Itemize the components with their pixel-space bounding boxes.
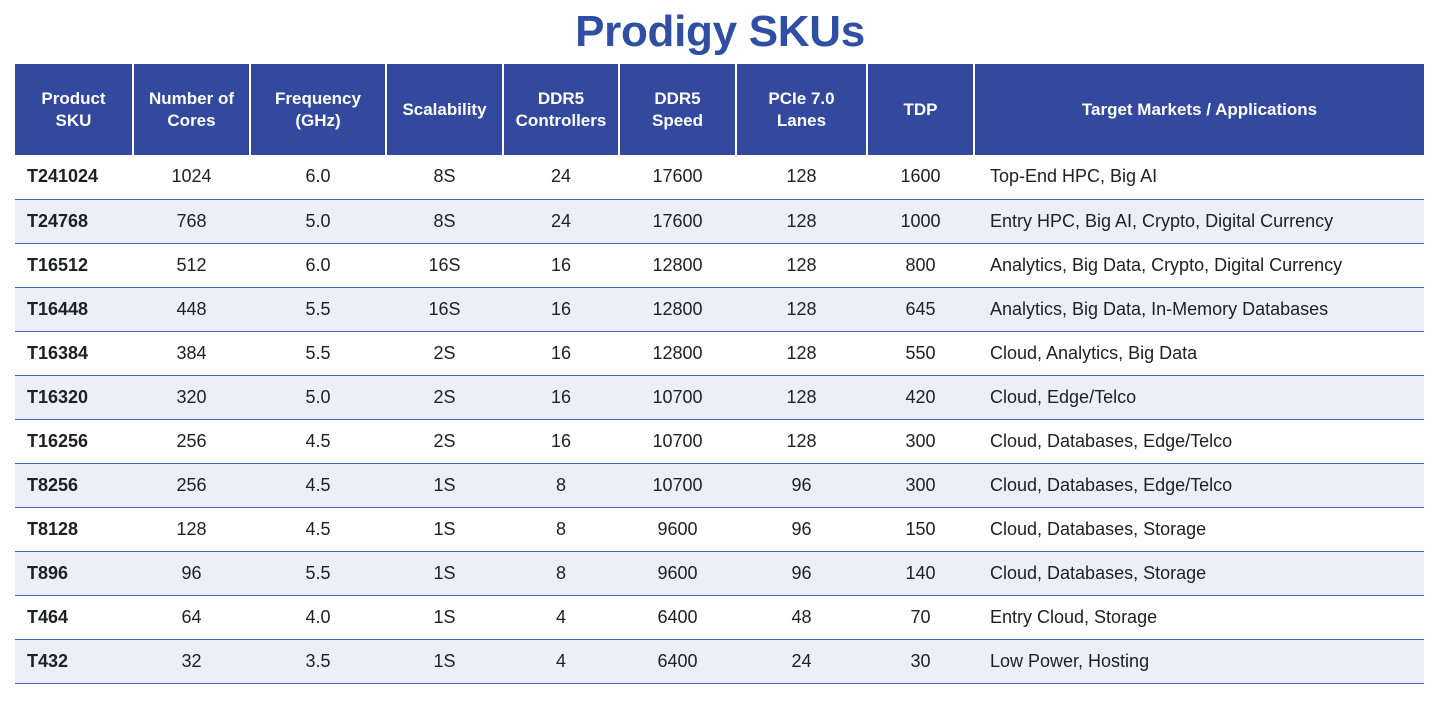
cell-product-sku: T8256	[15, 463, 133, 507]
cell-ddr5-controllers: 4	[503, 639, 619, 683]
table-row[interactable]: T163203205.02S1610700128420Cloud, Edge/T…	[15, 375, 1424, 419]
cell-ddr5-controllers: 8	[503, 507, 619, 551]
cell-ddr5-speed: 10700	[619, 375, 736, 419]
cell-ddr5-speed: 6400	[619, 639, 736, 683]
cell-scalability: 16S	[386, 243, 503, 287]
cell-pcie-lanes: 128	[736, 243, 867, 287]
header-line-2: Cores	[167, 111, 215, 130]
cell-ddr5-speed: 6400	[619, 595, 736, 639]
cell-frequency: 4.5	[250, 463, 386, 507]
prodigy-sku-page: Prodigy SKUs Product SKU Number of Cores	[0, 0, 1440, 720]
column-header-ddr5-speed[interactable]: DDR5 Speed	[619, 64, 736, 155]
cell-target-markets: Cloud, Databases, Storage	[974, 551, 1424, 595]
cell-ddr5-speed: 10700	[619, 463, 736, 507]
header-line-1: Frequency	[275, 89, 361, 108]
column-header-number-of-cores[interactable]: Number of Cores	[133, 64, 250, 155]
cell-target-markets: Low Power, Hosting	[974, 639, 1424, 683]
cell-product-sku: T16256	[15, 419, 133, 463]
header-line-2: SKU	[56, 111, 92, 130]
cell-pcie-lanes: 128	[736, 155, 867, 199]
table-row[interactable]: T165125126.016S1612800128800Analytics, B…	[15, 243, 1424, 287]
cell-pcie-lanes: 48	[736, 595, 867, 639]
cell-product-sku: T16448	[15, 287, 133, 331]
header-line-1: Scalability	[402, 100, 486, 119]
cell-pcie-lanes: 128	[736, 375, 867, 419]
cell-scalability: 2S	[386, 419, 503, 463]
cell-frequency: 4.5	[250, 419, 386, 463]
cell-target-markets: Entry Cloud, Storage	[974, 595, 1424, 639]
cell-pcie-lanes: 128	[736, 287, 867, 331]
cell-number-of-cores: 256	[133, 463, 250, 507]
column-header-product-sku[interactable]: Product SKU	[15, 64, 133, 155]
header-line-1: DDR5	[654, 89, 700, 108]
cell-ddr5-controllers: 16	[503, 331, 619, 375]
table-row[interactable]: T432323.51S464002430Low Power, Hosting	[15, 639, 1424, 683]
cell-tdp: 300	[867, 463, 974, 507]
cell-tdp: 550	[867, 331, 974, 375]
table-body: T24102410246.08S24176001281600Top-End HP…	[15, 155, 1424, 683]
cell-pcie-lanes: 128	[736, 331, 867, 375]
header-row: Product SKU Number of Cores Frequency (G…	[15, 64, 1424, 155]
cell-scalability: 1S	[386, 551, 503, 595]
cell-tdp: 150	[867, 507, 974, 551]
cell-frequency: 3.5	[250, 639, 386, 683]
cell-ddr5-controllers: 8	[503, 463, 619, 507]
cell-frequency: 5.0	[250, 199, 386, 243]
cell-frequency: 5.5	[250, 551, 386, 595]
cell-target-markets: Analytics, Big Data, Crypto, Digital Cur…	[974, 243, 1424, 287]
cell-pcie-lanes: 96	[736, 507, 867, 551]
cell-tdp: 1000	[867, 199, 974, 243]
cell-target-markets: Cloud, Databases, Storage	[974, 507, 1424, 551]
cell-target-markets: Cloud, Analytics, Big Data	[974, 331, 1424, 375]
cell-number-of-cores: 512	[133, 243, 250, 287]
cell-frequency: 5.5	[250, 287, 386, 331]
cell-number-of-cores: 64	[133, 595, 250, 639]
header-line-2: Speed	[652, 111, 703, 130]
cell-ddr5-speed: 12800	[619, 287, 736, 331]
cell-target-markets: Top-End HPC, Big AI	[974, 155, 1424, 199]
cell-scalability: 1S	[386, 595, 503, 639]
cell-target-markets: Entry HPC, Big AI, Crypto, Digital Curre…	[974, 199, 1424, 243]
cell-ddr5-speed: 17600	[619, 199, 736, 243]
cell-number-of-cores: 128	[133, 507, 250, 551]
header-line-1: Number of	[149, 89, 234, 108]
header-line-2: (GHz)	[295, 111, 340, 130]
table-row[interactable]: T24102410246.08S24176001281600Top-End HP…	[15, 155, 1424, 199]
header-line-1: PCIe 7.0	[768, 89, 834, 108]
column-header-scalability[interactable]: Scalability	[386, 64, 503, 155]
cell-scalability: 8S	[386, 199, 503, 243]
table-row[interactable]: T82562564.51S81070096300Cloud, Databases…	[15, 463, 1424, 507]
cell-target-markets: Cloud, Databases, Edge/Telco	[974, 463, 1424, 507]
table-row[interactable]: T162562564.52S1610700128300Cloud, Databa…	[15, 419, 1424, 463]
cell-product-sku: T432	[15, 639, 133, 683]
cell-product-sku: T24768	[15, 199, 133, 243]
header-line-1: Target Markets / Applications	[1082, 100, 1317, 119]
cell-ddr5-controllers: 4	[503, 595, 619, 639]
cell-target-markets: Analytics, Big Data, In-Memory Databases	[974, 287, 1424, 331]
cell-scalability: 2S	[386, 375, 503, 419]
column-header-pcie-lanes[interactable]: PCIe 7.0 Lanes	[736, 64, 867, 155]
cell-product-sku: T464	[15, 595, 133, 639]
table-row[interactable]: T247687685.08S24176001281000Entry HPC, B…	[15, 199, 1424, 243]
cell-scalability: 8S	[386, 155, 503, 199]
cell-tdp: 645	[867, 287, 974, 331]
cell-scalability: 1S	[386, 639, 503, 683]
table-row[interactable]: T163843845.52S1612800128550Cloud, Analyt…	[15, 331, 1424, 375]
cell-ddr5-controllers: 8	[503, 551, 619, 595]
cell-number-of-cores: 256	[133, 419, 250, 463]
cell-tdp: 1600	[867, 155, 974, 199]
cell-frequency: 6.0	[250, 243, 386, 287]
header-line-2: Lanes	[777, 111, 826, 130]
cell-scalability: 1S	[386, 507, 503, 551]
cell-ddr5-controllers: 24	[503, 199, 619, 243]
table-row[interactable]: T896965.51S8960096140Cloud, Databases, S…	[15, 551, 1424, 595]
cell-pcie-lanes: 128	[736, 199, 867, 243]
cell-frequency: 5.0	[250, 375, 386, 419]
cell-ddr5-controllers: 24	[503, 155, 619, 199]
cell-ddr5-speed: 9600	[619, 551, 736, 595]
cell-ddr5-speed: 10700	[619, 419, 736, 463]
table-row[interactable]: T81281284.51S8960096150Cloud, Databases,…	[15, 507, 1424, 551]
cell-ddr5-controllers: 16	[503, 243, 619, 287]
cell-ddr5-controllers: 16	[503, 287, 619, 331]
cell-product-sku: T16512	[15, 243, 133, 287]
column-header-ddr5-controllers[interactable]: DDR5 Controllers	[503, 64, 619, 155]
cell-ddr5-speed: 9600	[619, 507, 736, 551]
cell-ddr5-speed: 12800	[619, 331, 736, 375]
cell-number-of-cores: 768	[133, 199, 250, 243]
cell-ddr5-speed: 12800	[619, 243, 736, 287]
cell-number-of-cores: 320	[133, 375, 250, 419]
cell-pcie-lanes: 24	[736, 639, 867, 683]
cell-tdp: 70	[867, 595, 974, 639]
cell-tdp: 300	[867, 419, 974, 463]
column-header-frequency[interactable]: Frequency (GHz)	[250, 64, 386, 155]
cell-ddr5-controllers: 16	[503, 375, 619, 419]
cell-target-markets: Cloud, Databases, Edge/Telco	[974, 419, 1424, 463]
cell-frequency: 5.5	[250, 331, 386, 375]
cell-frequency: 6.0	[250, 155, 386, 199]
cell-scalability: 2S	[386, 331, 503, 375]
cell-tdp: 30	[867, 639, 974, 683]
cell-product-sku: T896	[15, 551, 133, 595]
prodigy-sku-table: Product SKU Number of Cores Frequency (G…	[15, 64, 1424, 684]
cell-frequency: 4.5	[250, 507, 386, 551]
cell-tdp: 140	[867, 551, 974, 595]
column-header-tdp[interactable]: TDP	[867, 64, 974, 155]
cell-product-sku: T8128	[15, 507, 133, 551]
table-header: Product SKU Number of Cores Frequency (G…	[15, 64, 1424, 155]
cell-frequency: 4.0	[250, 595, 386, 639]
cell-number-of-cores: 384	[133, 331, 250, 375]
header-line-1: Product	[41, 89, 105, 108]
cell-tdp: 800	[867, 243, 974, 287]
page-title: Prodigy SKUs	[0, 0, 1440, 64]
cell-target-markets: Cloud, Edge/Telco	[974, 375, 1424, 419]
cell-ddr5-speed: 17600	[619, 155, 736, 199]
table-row[interactable]: T164484485.516S1612800128645Analytics, B…	[15, 287, 1424, 331]
header-line-1: TDP	[904, 100, 938, 119]
cell-number-of-cores: 32	[133, 639, 250, 683]
cell-ddr5-controllers: 16	[503, 419, 619, 463]
cell-number-of-cores: 1024	[133, 155, 250, 199]
cell-tdp: 420	[867, 375, 974, 419]
cell-number-of-cores: 448	[133, 287, 250, 331]
cell-pcie-lanes: 128	[736, 419, 867, 463]
cell-number-of-cores: 96	[133, 551, 250, 595]
cell-product-sku: T241024	[15, 155, 133, 199]
header-line-2: Controllers	[516, 111, 607, 130]
cell-scalability: 1S	[386, 463, 503, 507]
header-line-1: DDR5	[538, 89, 584, 108]
cell-pcie-lanes: 96	[736, 463, 867, 507]
cell-pcie-lanes: 96	[736, 551, 867, 595]
cell-scalability: 16S	[386, 287, 503, 331]
table-row[interactable]: T464644.01S464004870Entry Cloud, Storage	[15, 595, 1424, 639]
sku-table-container: Product SKU Number of Cores Frequency (G…	[15, 64, 1424, 684]
cell-product-sku: T16384	[15, 331, 133, 375]
cell-product-sku: T16320	[15, 375, 133, 419]
column-header-target-markets[interactable]: Target Markets / Applications	[974, 64, 1424, 155]
